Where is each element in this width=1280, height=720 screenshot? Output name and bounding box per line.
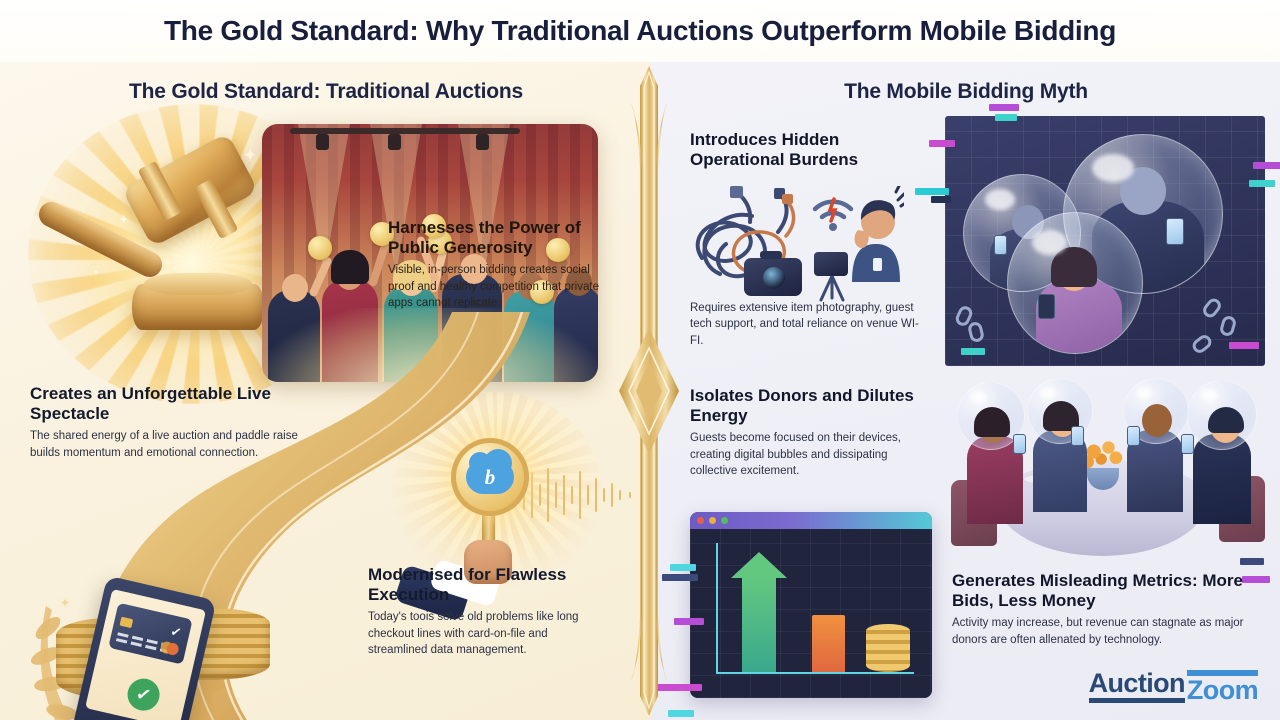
close-icon[interactable] bbox=[697, 517, 704, 524]
tripod-camera-icon bbox=[814, 252, 848, 276]
right-panel-title: The Mobile Bidding Myth bbox=[652, 80, 1280, 104]
minimize-icon[interactable] bbox=[709, 517, 716, 524]
left-block-2-heading: Creates an Unforgettable Live Spectacle bbox=[30, 384, 302, 423]
chart-bar-revenue bbox=[812, 615, 845, 672]
stage-light bbox=[316, 134, 329, 150]
crowd-guest-head bbox=[282, 274, 308, 302]
smartphone-icon bbox=[1181, 434, 1194, 454]
chart-y-axis bbox=[716, 543, 718, 673]
smartphone-icon bbox=[994, 235, 1007, 255]
right-block-3-heading: Generates Misleading Metrics: More Bids,… bbox=[952, 571, 1254, 610]
right-block-3-body: Activity may increase, but revenue can s… bbox=[952, 615, 1254, 648]
glitch-bar bbox=[1240, 558, 1264, 565]
bubble-person-hair bbox=[1051, 247, 1097, 287]
misleading-metrics-dashboard bbox=[690, 512, 932, 698]
right-panel-mobile-bidding-myth: The Mobile Bidding Myth bbox=[652, 62, 1280, 720]
right-block-1: Introduces Hidden Operational Burdens bbox=[690, 130, 916, 174]
bidding-paddle bbox=[308, 236, 332, 260]
tripod-legs-icon bbox=[818, 276, 846, 302]
right-block-1-heading: Introduces Hidden Operational Burdens bbox=[690, 130, 916, 169]
page-title: The Gold Standard: Why Traditional Aucti… bbox=[164, 15, 1116, 47]
left-panel-traditional-auctions: The Gold Standard: Traditional Auctions … bbox=[0, 62, 652, 720]
left-block-3: Modernised for Flawless Execution Today'… bbox=[368, 565, 590, 658]
glitch-bar bbox=[674, 618, 704, 625]
glitch-bar bbox=[670, 564, 696, 571]
smartphone-icon bbox=[1166, 218, 1184, 245]
window-titlebar[interactable] bbox=[690, 512, 932, 529]
glitch-bar bbox=[989, 104, 1019, 111]
paddle-logo-letter: b bbox=[485, 467, 496, 488]
stressed-tech-support-person bbox=[848, 186, 904, 282]
chart-plot-area bbox=[690, 529, 932, 698]
stage-light bbox=[476, 134, 489, 150]
tablet-screen: ✓ ✓ bbox=[85, 589, 206, 720]
isolation-bubble bbox=[1007, 212, 1143, 354]
left-block-2: Creates an Unforgettable Live Spectacle … bbox=[30, 384, 302, 461]
left-panel-title: The Gold Standard: Traditional Auctions bbox=[0, 80, 652, 104]
left-block-1-heading: Harnesses the Power of Public Generosity bbox=[388, 218, 600, 257]
glitch-bar bbox=[961, 348, 985, 355]
dslr-camera-icon bbox=[744, 258, 802, 296]
maximize-icon[interactable] bbox=[721, 517, 728, 524]
gala-guest-head bbox=[1142, 404, 1172, 437]
glitch-bar bbox=[929, 140, 955, 147]
glitch-bar bbox=[668, 710, 694, 717]
chart-x-axis bbox=[716, 672, 914, 674]
right-block-2: Isolates Donors and Dilutes Energy Guest… bbox=[690, 386, 920, 479]
sparkle-icon: ✦ bbox=[243, 146, 257, 166]
chart-bar-activity bbox=[742, 576, 776, 672]
header-band: The Gold Standard: Why Traditional Aucti… bbox=[0, 0, 1280, 62]
guests-in-digital-bubbles bbox=[945, 116, 1265, 366]
gala-guest-hair bbox=[974, 407, 1010, 437]
smartphone-icon bbox=[1071, 426, 1084, 446]
right-block-3: Generates Misleading Metrics: More Bids,… bbox=[952, 571, 1254, 648]
gala-guest-hair bbox=[1208, 407, 1244, 433]
left-block-2-body: The shared energy of a live auction and … bbox=[30, 428, 302, 461]
audio-waveform-icon bbox=[520, 467, 652, 523]
left-block-1-body: Visible, in-person bidding creates socia… bbox=[388, 262, 600, 311]
sparkle-icon: ✦ bbox=[92, 267, 100, 278]
cloud-logo-icon: b bbox=[466, 460, 514, 494]
payment-success-check-icon: ✓ bbox=[124, 675, 162, 713]
infographic-canvas: The Gold Standard: Why Traditional Aucti… bbox=[0, 0, 1280, 720]
glitch-bar bbox=[656, 684, 702, 691]
sparkle-icon: ✦ bbox=[118, 212, 129, 228]
glitch-bar bbox=[1253, 162, 1280, 169]
glitch-bar bbox=[995, 114, 1017, 121]
glitch-bar bbox=[1229, 342, 1259, 349]
card-brand-icon bbox=[165, 642, 179, 656]
auctionzoom-logo[interactable]: Auction Zoom bbox=[1089, 670, 1258, 704]
smartphone-icon bbox=[1127, 426, 1140, 446]
smartphone-icon bbox=[1013, 434, 1026, 454]
isolation-bubble bbox=[1187, 380, 1257, 450]
right-block-2-heading: Isolates Donors and Dilutes Energy bbox=[690, 386, 920, 425]
glitch-bar bbox=[662, 574, 698, 581]
right-block-1-body: Requires extensive item photography, gue… bbox=[690, 300, 928, 349]
stage-light bbox=[388, 134, 401, 150]
bubble-person-head bbox=[1120, 167, 1166, 215]
crowd-guest-hair bbox=[331, 250, 369, 284]
gala-dinner-table-bubbles bbox=[945, 376, 1267, 564]
smartphone-icon bbox=[1038, 294, 1055, 319]
logo-text-auction: Auction bbox=[1089, 670, 1185, 703]
saved-credit-card: ✓ bbox=[108, 603, 192, 665]
right-block-2-body: Guests become focused on their devices, … bbox=[690, 430, 920, 479]
left-block-3-heading: Modernised for Flawless Execution bbox=[368, 565, 590, 604]
glitch-bar bbox=[1249, 180, 1275, 187]
right-block-1-body-wrap: Requires extensive item photography, gue… bbox=[690, 300, 928, 349]
logo-text-zoom: Zoom bbox=[1187, 670, 1258, 704]
left-block-1: Harnesses the Power of Public Generosity… bbox=[388, 218, 600, 311]
card-check-icon: ✓ bbox=[169, 623, 183, 641]
gold-coin-stack bbox=[866, 624, 910, 672]
auction-paddle-disc: b bbox=[451, 438, 529, 516]
left-block-3-body: Today's toois solve old problems like lo… bbox=[368, 609, 590, 658]
card-chip-icon bbox=[119, 617, 133, 628]
